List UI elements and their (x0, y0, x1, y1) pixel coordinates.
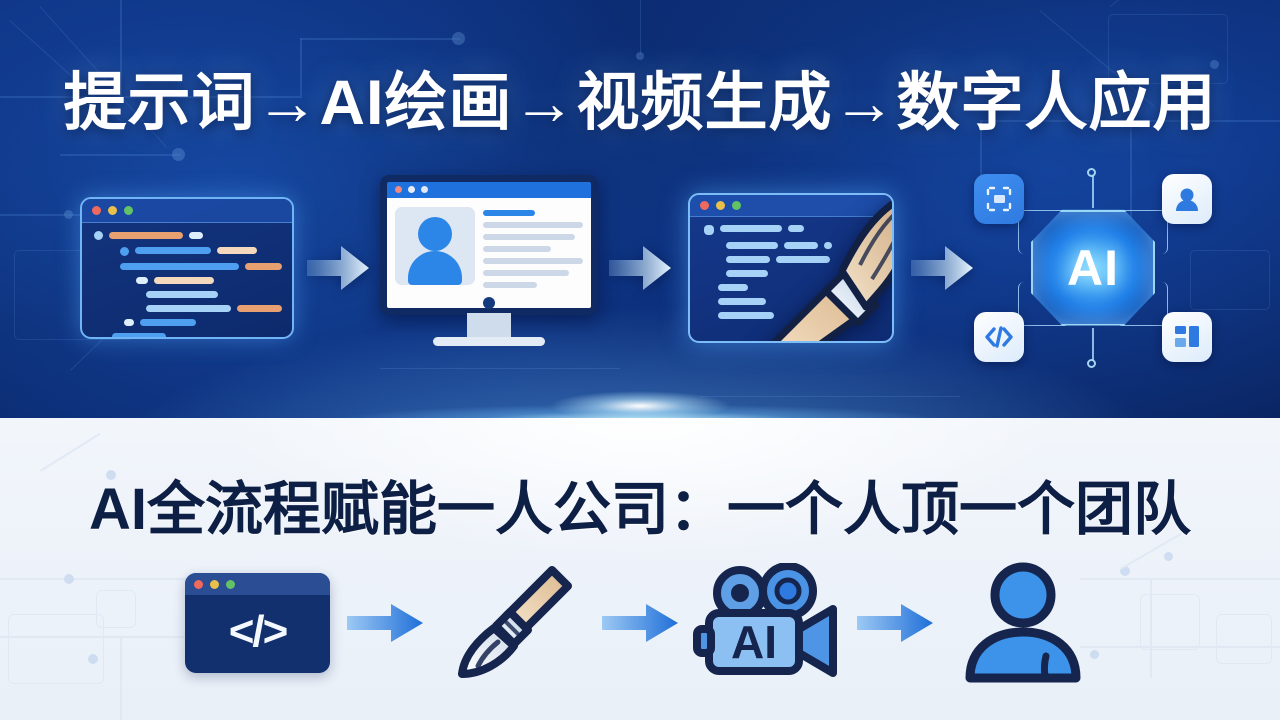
top-arrow-1 (302, 160, 374, 375)
paintbrush-code-icon (688, 193, 894, 343)
maximize-dot-icon (226, 580, 235, 589)
top-arrow-2 (604, 160, 676, 375)
arrow-right-icon (347, 601, 423, 645)
chip-person-icon (1162, 174, 1212, 224)
minimize-dot-icon (716, 201, 725, 210)
monitor-stand-base (433, 337, 545, 346)
video-ai-label: AI (731, 616, 777, 668)
top-step-video-generation-brush[interactable] (676, 160, 906, 375)
maximize-dot-icon (421, 186, 428, 193)
close-dot-icon (92, 206, 101, 215)
close-dot-icon (194, 580, 203, 589)
chip-code-icon (974, 312, 1024, 362)
profile-text-lines (483, 207, 583, 315)
movie-camera-icon: AI (693, 563, 843, 683)
maximize-dot-icon (124, 206, 133, 215)
bottom-arrow-3 (843, 553, 948, 693)
layout-panel-icon (1173, 324, 1201, 350)
paintbrush-icon (448, 558, 578, 688)
arrow-right-icon (602, 601, 678, 645)
chip-layout-icon (1162, 312, 1212, 362)
user-person-icon (958, 560, 1088, 686)
user-person-icon (1172, 184, 1202, 214)
bottom-arrow-2 (588, 553, 693, 693)
bottom-pipeline-row: </> (0, 548, 1280, 698)
arrow-right-icon (857, 601, 933, 645)
top-step-digital-human-ai-hub[interactable]: AI (978, 160, 1208, 375)
image-frame-icon (985, 185, 1013, 213)
bottom-step-code[interactable]: </> (183, 553, 333, 693)
avatar (395, 207, 475, 285)
monitor-stand-neck (467, 313, 511, 337)
bottom-step-video[interactable]: AI (693, 553, 843, 693)
bottom-step-paint[interactable] (438, 553, 588, 693)
top-pipeline-row: AI (0, 160, 1280, 375)
close-dot-icon (395, 186, 402, 193)
top-step-ai-drawing-monitor[interactable] (374, 160, 604, 375)
minimize-dot-icon (210, 580, 219, 589)
bottom-arrow-1 (333, 553, 438, 693)
window-titlebar (690, 195, 892, 217)
arrow-right-icon (307, 240, 369, 296)
ai-core-hexagon: AI (1031, 210, 1155, 326)
code-window-icon: </> (185, 573, 330, 673)
close-dot-icon (700, 201, 709, 210)
code-lines (94, 231, 282, 339)
chip-image-icon (974, 174, 1024, 224)
code-lines (704, 225, 882, 326)
minimize-dot-icon (408, 186, 415, 193)
ai-core-label: AI (1067, 239, 1119, 297)
top-step-prompt-code-window[interactable] (72, 160, 302, 375)
browser-titlebar (387, 182, 591, 198)
monitor-screen (380, 175, 598, 315)
ai-hub-icon: AI (978, 170, 1208, 366)
arrow-right-icon (609, 240, 671, 296)
window-titlebar (82, 199, 292, 223)
minimize-dot-icon (108, 206, 117, 215)
top-arrow-3 (906, 160, 978, 375)
top-title: 提示词→AI绘画→视频生成→数字人应用 (0, 52, 1280, 143)
monitor-profile-icon (380, 175, 598, 361)
code-glyph: </> (185, 595, 330, 673)
infographic-canvas: 提示词→AI绘画→视频生成→数字人应用 (0, 0, 1280, 720)
window-titlebar (185, 573, 330, 595)
arrow-right-icon (911, 240, 973, 296)
monitor-power-button (483, 297, 495, 309)
code-brackets-icon (984, 324, 1014, 350)
bottom-title: AI全流程赋能一人公司：一个人顶一个团队 (0, 462, 1280, 546)
bottom-step-person[interactable] (948, 553, 1098, 693)
maximize-dot-icon (732, 201, 741, 210)
code-window-icon (80, 197, 294, 339)
